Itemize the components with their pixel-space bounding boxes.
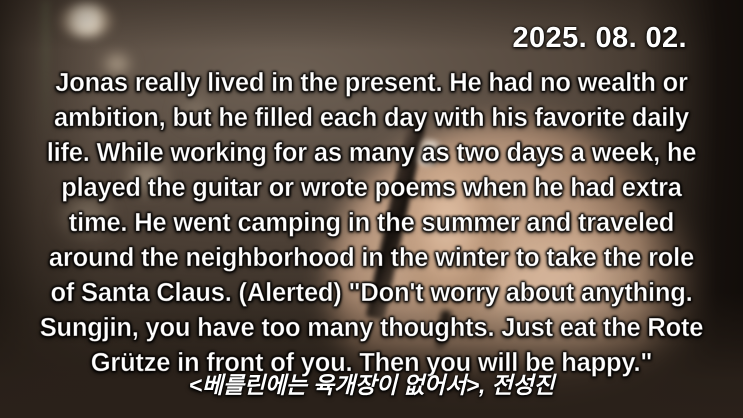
quote-line: around the neighborhood in the winter to… xyxy=(14,241,729,276)
quote-line: life. While working for as many as two d… xyxy=(14,136,729,171)
date-label: 2025. 08. 02. xyxy=(512,22,687,55)
quote-card: 2025. 08. 02. Jonas really lived in the … xyxy=(0,0,743,418)
quote-line: Jonas really lived in the present. He ha… xyxy=(14,66,729,101)
bokeh-light-icon xyxy=(58,3,114,37)
quote-line: played the guitar or wrote poems when he… xyxy=(14,171,729,206)
quote-line: Sungjin, you have too many thoughts. Jus… xyxy=(14,311,729,346)
quote-text: Jonas really lived in the present. He ha… xyxy=(14,66,729,381)
attribution-label: <베를린에는 육개장이 없어서>, 전성진 xyxy=(0,366,743,400)
quote-line: ambition, but he filled each day with hi… xyxy=(14,101,729,136)
quote-line: of Santa Claus. (Alerted) "Don't worry a… xyxy=(14,276,729,311)
quote-line: time. He went camping in the summer and … xyxy=(14,206,729,241)
